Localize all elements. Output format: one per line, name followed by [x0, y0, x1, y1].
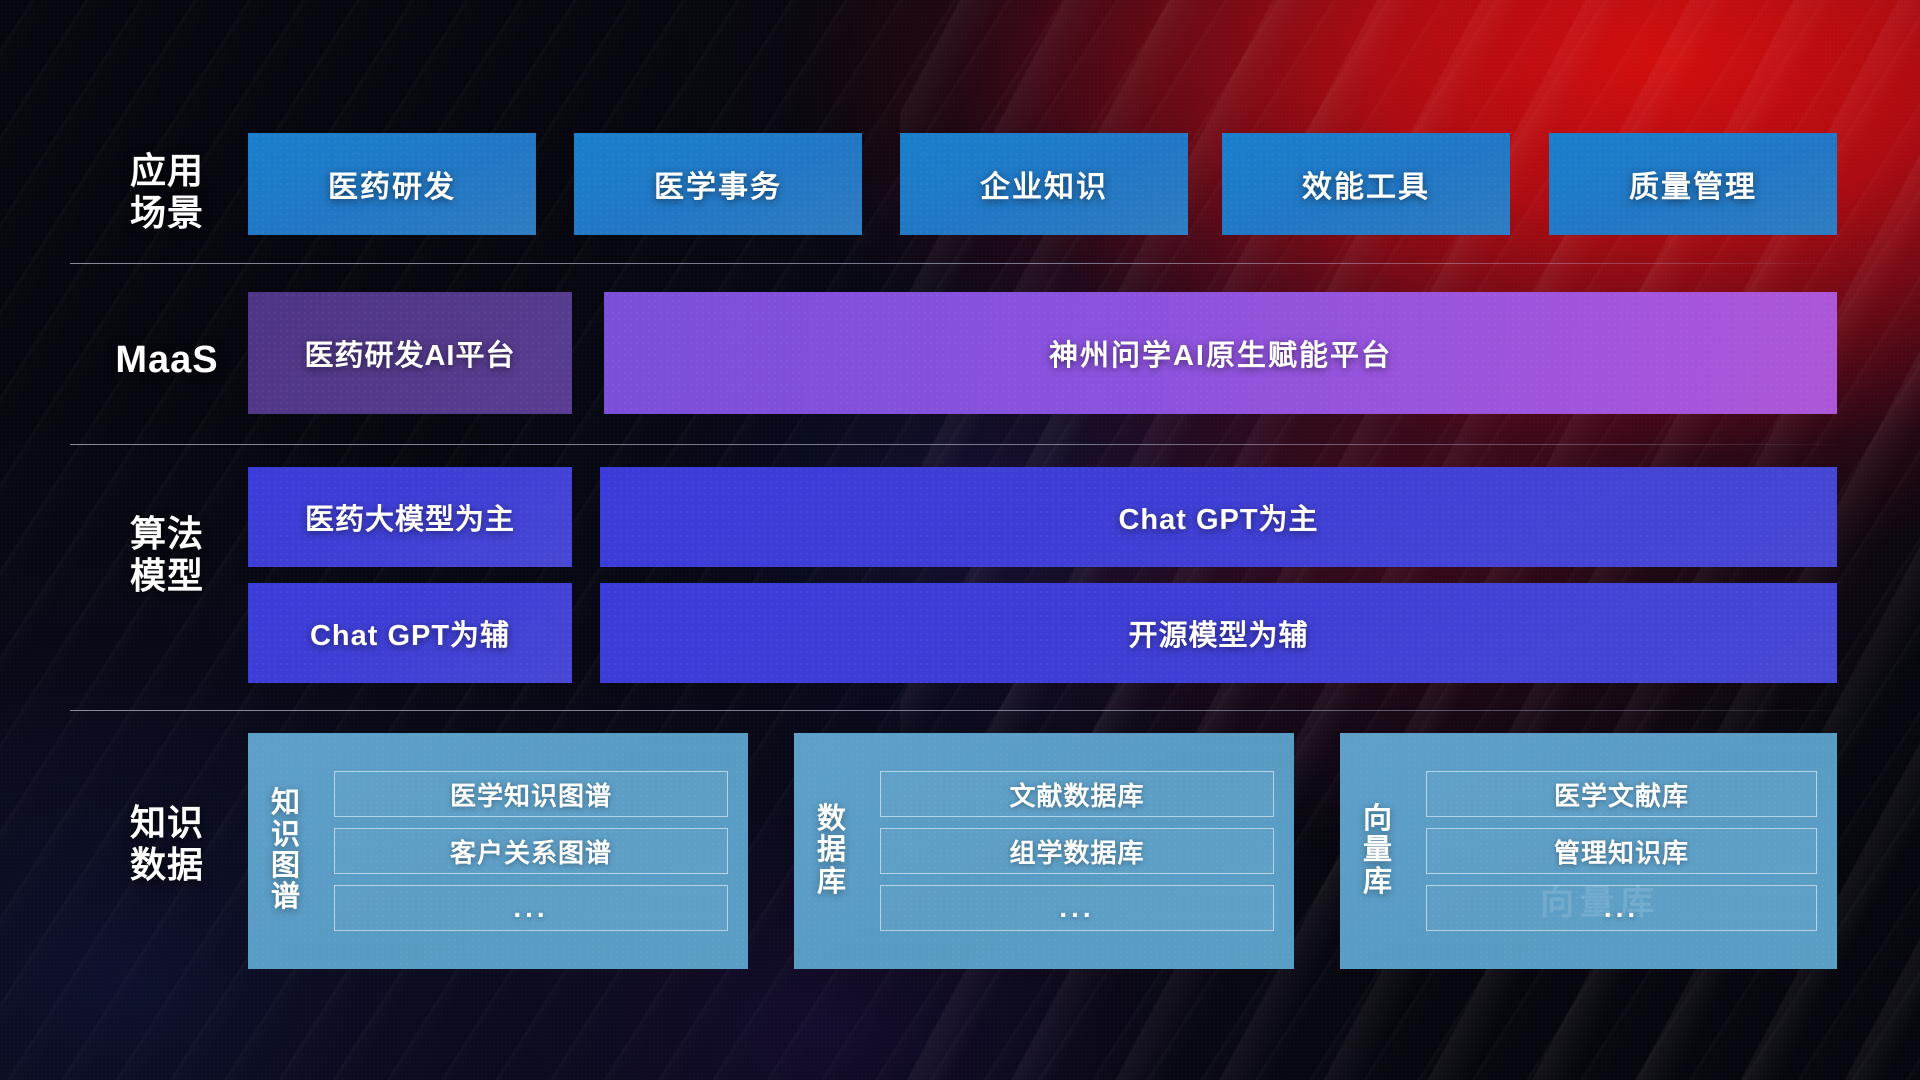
divider-2 — [70, 444, 1850, 445]
maas-box-shenzhou-wenxue-platform[interactable]: 神州问学AI原生赋能平台 — [604, 292, 1837, 414]
kd-item-more[interactable]: ... — [1426, 885, 1817, 931]
kd-item-management-knowledge-store[interactable]: 管理知识库 — [1426, 828, 1817, 874]
divider-1 — [70, 263, 1850, 264]
row-label-application-scenarios: 应用 场景 — [92, 150, 242, 235]
kd-title-char: 谱 — [271, 882, 301, 913]
maas-box-drug-rnd-ai-platform[interactable]: 医药研发AI平台 — [248, 292, 572, 414]
row-label-knowledge-data: 知识 数据 — [92, 802, 242, 887]
knowledge-group-vector-store-items: 医学文献库 管理知识库 ... — [1416, 733, 1837, 969]
kd-title-char: 向 — [1363, 804, 1393, 835]
row-label-maas: MaaS — [92, 338, 242, 383]
kd-title-char: 库 — [817, 867, 847, 898]
kd-item-omics-database[interactable]: 组学数据库 — [880, 828, 1274, 874]
algo-box-opensource-secondary[interactable]: 开源模型为辅 — [600, 583, 1837, 683]
kd-title-char: 识 — [271, 820, 301, 851]
algo-box-chatgpt-secondary[interactable]: Chat GPT为辅 — [248, 583, 572, 683]
kd-item-medical-knowledge-graph[interactable]: 医学知识图谱 — [334, 771, 728, 817]
kd-title-char: 知 — [271, 788, 301, 819]
knowledge-group-database[interactable]: 数 据 库 文献数据库 组学数据库 ... — [794, 733, 1294, 969]
knowledge-group-database-items: 文献数据库 组学数据库 ... — [870, 733, 1294, 969]
kd-title-char: 图 — [271, 851, 301, 882]
algo-box-pharma-llm-primary[interactable]: 医药大模型为主 — [248, 467, 572, 567]
kd-item-more[interactable]: ... — [880, 885, 1274, 931]
kd-title-char: 数 — [817, 804, 847, 835]
kd-item-more[interactable]: ... — [334, 885, 728, 931]
knowledge-group-database-title: 数 据 库 — [794, 733, 870, 969]
kd-item-customer-relation-graph[interactable]: 客户关系图谱 — [334, 828, 728, 874]
knowledge-group-graph-items: 医学知识图谱 客户关系图谱 ... — [324, 733, 748, 969]
kd-item-literature-database[interactable]: 文献数据库 — [880, 771, 1274, 817]
diagram-content: 应用 场景 医药研发 医学事务 企业知识 效能工具 质量管理 MaaS 医药研发… — [0, 0, 1920, 1080]
app-box-medical-affairs[interactable]: 医学事务 — [574, 133, 862, 235]
app-box-enterprise-knowledge[interactable]: 企业知识 — [900, 133, 1188, 235]
knowledge-group-graph[interactable]: 知 识 图 谱 医学知识图谱 客户关系图谱 ... — [248, 733, 748, 969]
slide-canvas: 应用 场景 医药研发 医学事务 企业知识 效能工具 质量管理 MaaS 医药研发… — [0, 0, 1920, 1080]
kd-title-char: 据 — [817, 835, 847, 866]
divider-3 — [70, 710, 1850, 711]
app-box-efficiency-tools[interactable]: 效能工具 — [1222, 133, 1510, 235]
algo-box-chatgpt-primary[interactable]: Chat GPT为主 — [600, 467, 1837, 567]
row-label-algorithm-models: 算法 模型 — [92, 513, 242, 598]
app-box-drug-rnd[interactable]: 医药研发 — [248, 133, 536, 235]
kd-item-medical-literature-store[interactable]: 医学文献库 — [1426, 771, 1817, 817]
knowledge-group-vector-store[interactable]: 向 量 库 医学文献库 管理知识库 ... 向量库 — [1340, 733, 1837, 969]
kd-title-char: 库 — [1363, 867, 1393, 898]
knowledge-group-graph-title: 知 识 图 谱 — [248, 733, 324, 969]
kd-title-char: 量 — [1363, 835, 1393, 866]
knowledge-group-vector-store-title: 向 量 库 — [1340, 733, 1416, 969]
app-box-quality-management[interactable]: 质量管理 — [1549, 133, 1837, 235]
